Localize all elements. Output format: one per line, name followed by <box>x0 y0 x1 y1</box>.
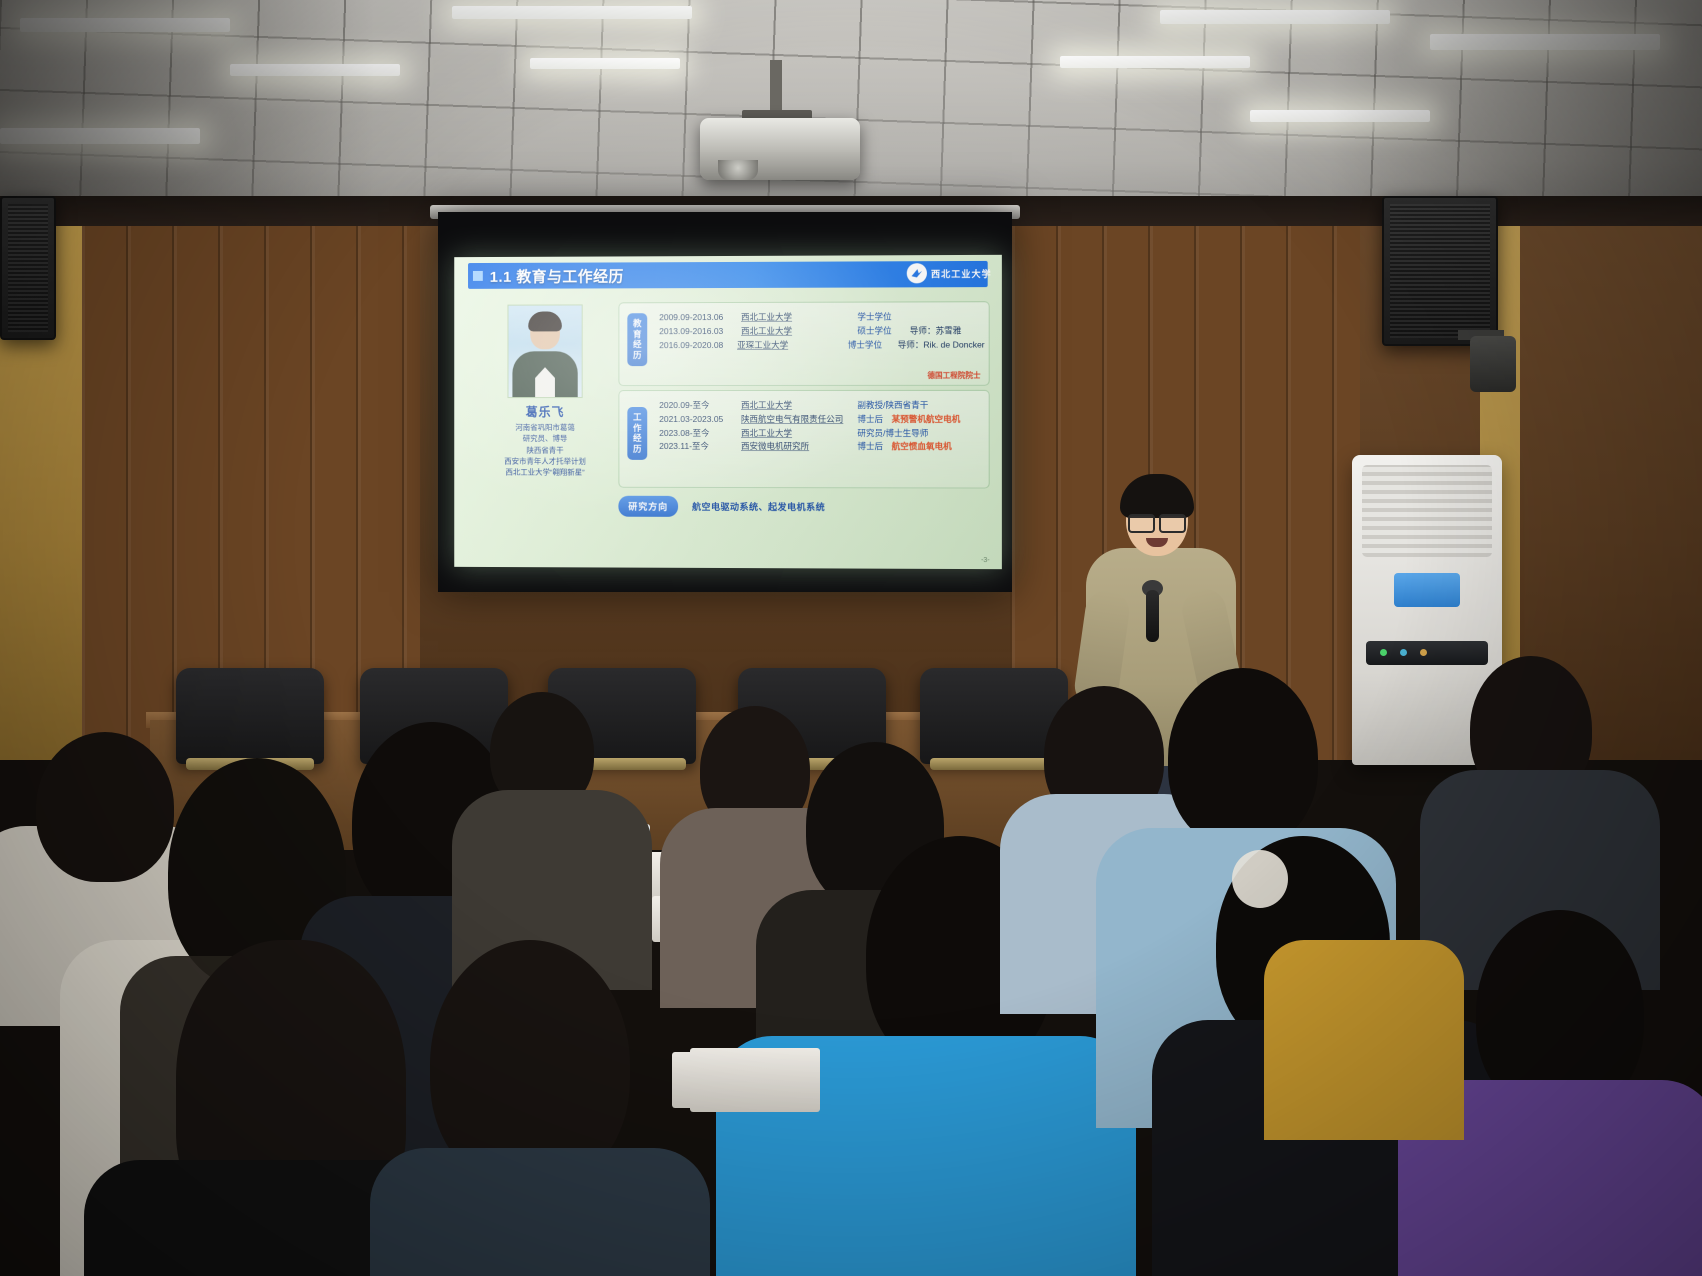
profile-credential-line: 河南省巩阳市葛蔼 <box>480 422 611 433</box>
education-note: 德国工程院院士 <box>927 370 980 381</box>
ceiling-shading <box>0 0 1702 215</box>
university-name: 西北工业大学 <box>931 266 992 279</box>
research-direction-chip: 研究方向 <box>618 496 678 517</box>
work-role: 博士后 <box>857 440 891 454</box>
ac-brand-badge <box>1394 573 1460 607</box>
education-date: 2013.09-2016.03 <box>659 325 741 339</box>
eyeglasses-icon <box>1128 514 1186 529</box>
work-tab-char: 历 <box>627 444 647 455</box>
work-date: 2023.11-至今 <box>659 440 741 454</box>
bird-emblem-icon <box>910 266 924 280</box>
work-role: 研究员/博士生导师 <box>857 427 950 441</box>
profile-name: 葛乐飞 <box>480 403 611 420</box>
education-date: 2016.09-2020.08 <box>659 339 737 353</box>
presenter-hair <box>1120 474 1194 518</box>
work-highlight: 航空惯血氧电机 <box>892 440 952 454</box>
projector-lens-icon <box>718 160 758 180</box>
work-org: 陕西航空电气有限责任公司 <box>741 413 857 427</box>
education-tab-label: 教 育 经 历 <box>627 313 647 365</box>
work-role: 副教授/陕西省青干 <box>857 399 950 413</box>
work-tab-char: 作 <box>627 423 647 434</box>
research-direction-text: 航空电驱动系统、起发电机系统 <box>692 500 825 513</box>
profile-photo <box>507 304 582 398</box>
education-tab-char: 历 <box>627 350 647 361</box>
work-date: 2020.09-至今 <box>659 399 741 413</box>
work-org: 西北工业大学 <box>741 427 857 441</box>
slide-header-marker-icon <box>473 271 483 281</box>
education-degree: 博士学位 <box>848 338 898 352</box>
work-date: 2023.08-至今 <box>659 427 741 441</box>
microphone-icon <box>1146 590 1159 642</box>
audience-shoulders <box>1264 940 1464 1140</box>
education-degree: 硕士学位 <box>857 324 909 338</box>
speaker-grill <box>8 204 48 332</box>
audience-shoulders <box>370 1148 710 1276</box>
wall-speaker-left <box>0 196 56 340</box>
work-date: 2021.03-2023.05 <box>659 413 741 427</box>
wall-camera <box>1470 336 1516 392</box>
work-org: 西安微电机研究所 <box>741 440 857 454</box>
audience <box>0 640 1702 1276</box>
work-row: 2023.11-至今 西安微电机研究所 博士后 航空惯血氧电机 <box>659 440 984 454</box>
university-logo: 西北工业大学 <box>907 263 992 283</box>
profile-credential-line: 西北工业大学“翱翔新星” <box>480 467 611 478</box>
slide-page-number: -3- <box>981 557 990 564</box>
face-mask-icon <box>1232 850 1288 908</box>
slide-title: 1.1 教育与工作经历 <box>490 265 624 286</box>
profile-credentials: 河南省巩阳市葛蔼 研究员、博导 陕西省青干 西安市青年人才托举计划 西北工业大学… <box>480 422 611 478</box>
education-row: 2009.09-2013.06 西北工业大学 学士学位 <box>659 310 984 325</box>
education-org: 西北工业大学 <box>741 311 857 325</box>
work-rows: 2020.09-至今 西北工业大学 副教授/陕西省青干 2021.03-2023… <box>659 399 984 454</box>
work-card: 工 作 经 历 2020.09-至今 西北工业大学 副教授/陕西省青干 2021… <box>618 390 989 489</box>
work-highlight: 某预警机航空电机 <box>892 413 961 427</box>
education-org: 西北工业大学 <box>741 324 857 338</box>
work-tab-char: 工 <box>627 412 647 423</box>
ac-vent-grill <box>1362 465 1492 557</box>
desk-surface <box>690 1048 820 1112</box>
work-org: 西北工业大学 <box>741 399 857 413</box>
presentation-slide: 1.1 教育与工作经历 西北工业大学 葛乐飞 河南省巩阳市葛蔼 研究员、博导 陕… <box>454 255 1002 569</box>
audience-head <box>36 732 174 882</box>
education-org: 亚琛工业大学 <box>737 338 848 352</box>
audience-head <box>1168 668 1318 848</box>
speaker-grill <box>1390 204 1490 338</box>
education-row: 2016.09-2020.08 亚琛工业大学 博士学位 导师：Rik. de D… <box>659 338 984 352</box>
profile-credential-line: 研究员、博导 <box>480 433 611 444</box>
profile-block: 葛乐飞 河南省巩阳市葛蔼 研究员、博导 陕西省青干 西安市青年人才托举计划 西北… <box>480 304 611 478</box>
education-date: 2009.09-2013.06 <box>659 311 741 325</box>
university-emblem-icon <box>907 263 927 283</box>
work-tab-char: 经 <box>627 433 647 444</box>
work-tab-label: 工 作 经 历 <box>627 407 647 459</box>
research-direction-block: 研究方向 航空电驱动系统、起发电机系统 <box>618 496 825 518</box>
education-tab-char: 经 <box>627 339 647 350</box>
education-card: 教 育 经 历 2009.09-2013.06 西北工业大学 学士学位 2013… <box>618 301 989 386</box>
profile-credential-line: 陕西省青干 <box>480 444 611 455</box>
education-tab-char: 教 <box>627 318 647 329</box>
work-role: 博士后 <box>857 413 891 427</box>
lecture-hall-scene: 1.1 教育与工作经历 西北工业大学 葛乐飞 河南省巩阳市葛蔼 研究员、博导 陕… <box>0 0 1702 1276</box>
profile-credential-line: 西安市青年人才托举计划 <box>480 455 611 466</box>
education-tab-char: 育 <box>627 329 647 340</box>
photo-hair <box>528 311 562 331</box>
work-row: 2021.03-2023.05 陕西航空电气有限责任公司 博士后 某预警机航空电… <box>659 413 984 427</box>
education-row: 2013.09-2016.03 西北工业大学 硕士学位 导师：苏雪雅 <box>659 324 984 339</box>
ceiling <box>0 0 1702 215</box>
work-row: 2020.09-至今 西北工业大学 副教授/陕西省青干 <box>659 399 984 413</box>
education-rows: 2009.09-2013.06 西北工业大学 学士学位 2013.09-2016… <box>659 310 984 352</box>
work-row: 2023.08-至今 西北工业大学 研究员/博士生导师 <box>659 427 984 441</box>
wall-speaker-right <box>1382 196 1498 346</box>
education-advisor: 导师：Rik. de Doncker <box>898 338 985 352</box>
education-advisor: 导师：苏雪雅 <box>910 324 962 338</box>
education-degree: 学士学位 <box>857 310 909 324</box>
